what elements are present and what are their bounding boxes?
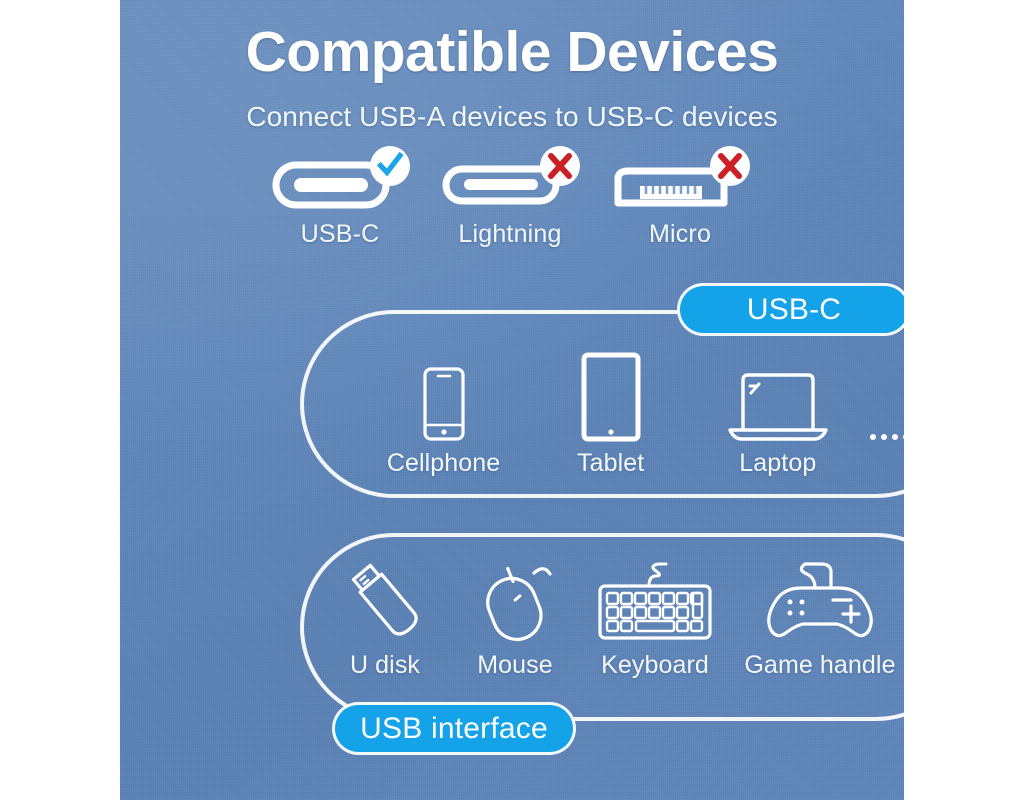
gamepad-icon [757,556,883,644]
device-label: Tablet [577,449,644,478]
device-label: U disk [350,651,420,680]
usb-interface-group-pill-label: USB interface [360,712,548,746]
device-label: Keyboard [601,651,709,680]
product-infographic-panel: Compatible Devices Connect USB-A devices… [120,0,904,800]
connector-item-micro: Micro [600,150,760,249]
device-label: Mouse [477,651,553,680]
device-item-tablet: Tablet [527,352,694,478]
laptop-icon [726,362,830,442]
usb-c-device-list: Cellphone Tablet [360,352,904,478]
device-item-cellphone: Cellphone [360,366,527,478]
mouse-icon [474,556,556,644]
device-item-mouse: Mouse [450,556,580,680]
connector-label: Micro [649,220,711,249]
lightning-connector-icon [442,150,578,216]
connector-label: Lightning [458,220,561,249]
device-item-laptop: Laptop [694,362,861,478]
page-subtitle: Connect USB-A devices to USB-C devices [120,101,904,133]
device-label: Cellphone [387,449,501,478]
device-label: Game handle [744,651,895,680]
ellipsis-dots-icon [870,434,904,440]
usb-c-group-pill: USB-C [677,283,904,336]
connector-item-lightning: Lightning [430,150,590,249]
infographic-canvas: Compatible Devices Connect USB-A devices… [0,0,1024,800]
usb-c-connector-icon [272,150,408,216]
micro-usb-connector-icon [612,150,748,216]
keyboard-icon [594,556,716,644]
device-item-keyboard: Keyboard [580,556,730,680]
device-label: Laptop [739,449,816,478]
usb-interface-group-pill: USB interface [332,702,576,755]
connector-item-usb-c: USB-C [260,150,420,249]
cross-badge-icon [710,146,750,186]
tablet-icon [580,352,642,442]
check-badge-icon [370,146,410,186]
cellphone-icon [421,366,467,442]
page-title: Compatible Devices [120,22,904,84]
cross-badge-icon [540,146,580,186]
usb-c-group-pill-label: USB-C [747,293,841,327]
connector-label: USB-C [301,220,380,249]
connector-compatibility-row: USB-C Lightning [260,150,760,262]
device-item-u-disk: U disk [320,556,450,680]
usb-flash-drive-icon [347,556,423,644]
usb-interface-device-list: U disk Mouse [320,556,904,680]
usb-c-more-indicator [861,434,904,478]
device-item-game-handle: Game handle [730,556,904,680]
